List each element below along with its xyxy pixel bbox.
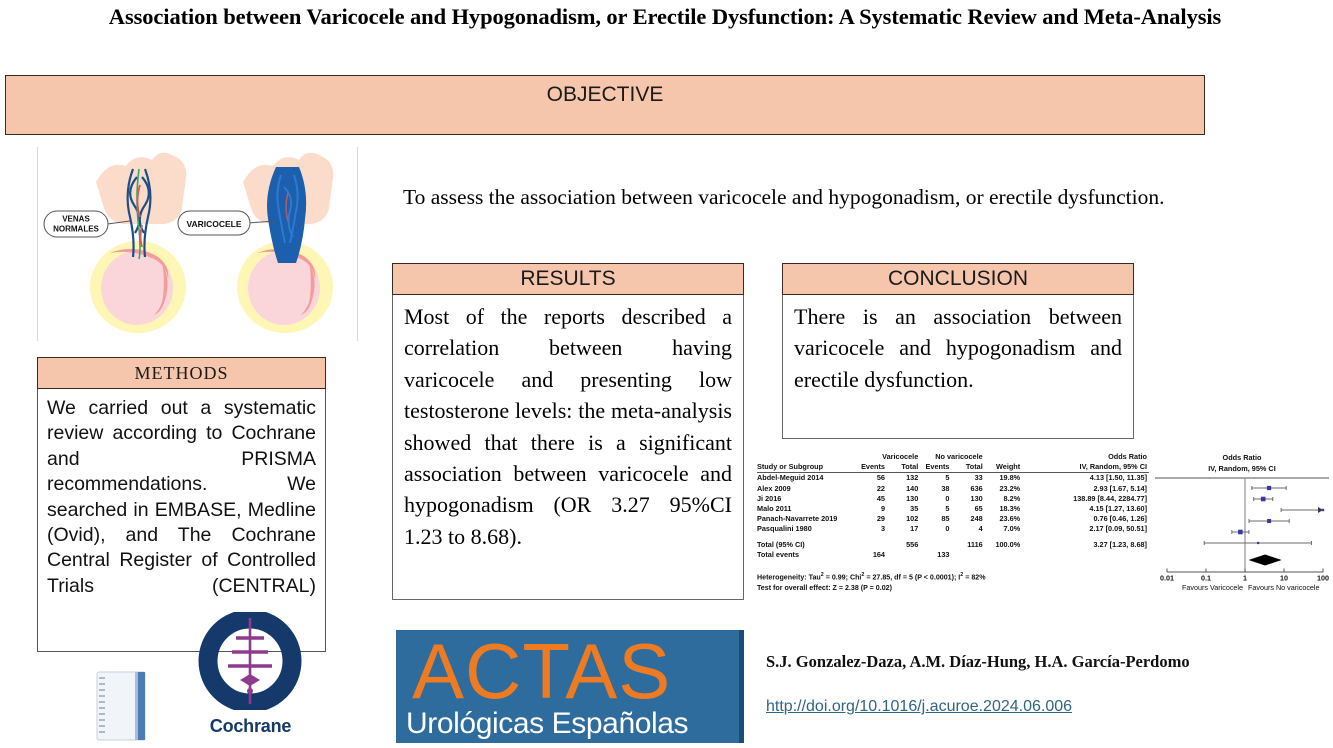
forest-events-control: 0: [921, 494, 952, 504]
forest-weight: 23.2%: [986, 484, 1024, 494]
forest-weight: 7.0%: [986, 524, 1024, 534]
forest-total-control: 130: [952, 494, 985, 504]
forest-col-ci: IV, Random, 95% CI: [1024, 462, 1149, 473]
forest-events-varicocele: 45: [857, 494, 888, 504]
forest-or-ci: 138.89 [8.44, 2284.77]: [1024, 494, 1149, 504]
forest-weight: 8.2%: [986, 494, 1024, 504]
forest-events-control: 38: [921, 484, 952, 494]
forest-te-blank3: [986, 550, 1024, 560]
section-header-objective: OBJECTIVE: [5, 75, 1205, 135]
forest-group-header-row: Varicocele No varicocele Odds Ratio: [757, 452, 1149, 462]
forest-x-tick: 10: [1280, 574, 1288, 583]
authors-line: S.J. Gonzalez-Daza, A.M. Díaz-Hung, H.A.…: [766, 652, 1190, 672]
spiral-notebook-glyph: [88, 668, 156, 743]
forest-col-events2: Events: [921, 462, 952, 473]
forest-or-ci: 2.17 [0.09, 50.51]: [1024, 524, 1149, 534]
forest-total-varicocele: 102: [888, 514, 921, 524]
anatomy-illustration-svg: VENAS NORMALES: [38, 147, 357, 341]
forest-total-n2: 1116: [952, 540, 985, 550]
forest-events-varicocele: 3: [857, 524, 888, 534]
forest-graph-title: Odds Ratio: [1155, 452, 1329, 463]
forest-events-control: 5: [921, 504, 952, 514]
forest-row-marker: [1249, 519, 1289, 523]
anatomy-label-varicocele: VARICOCELE: [186, 219, 241, 229]
forest-events-varicocele: 56: [857, 473, 888, 484]
forest-events-varicocele: 22: [857, 484, 888, 494]
forest-total-control: 65: [952, 504, 985, 514]
section-header-results: RESULTS: [392, 263, 744, 295]
forest-total-varicocele: 130: [888, 494, 921, 504]
forest-row-marker: [1232, 530, 1249, 535]
forest-study-name: Alex 2009: [757, 484, 857, 494]
forest-study-row: Alex 2009221403863623.2%2.93 [1.67, 5.14…: [757, 484, 1149, 494]
poster-canvas: Association between Varicocele and Hypog…: [0, 0, 1333, 743]
forest-study-name: Ji 2016: [757, 494, 857, 504]
forest-te-blank2: [952, 550, 985, 560]
forest-row-marker: [1252, 486, 1286, 490]
cochrane-mark-icon: [198, 612, 303, 710]
forest-weight: 19.8%: [986, 473, 1024, 484]
forest-pooled-diamond: [1249, 555, 1282, 566]
forest-study-name: Malo 2011: [757, 504, 857, 514]
forest-total-control: 4: [952, 524, 985, 534]
forest-te-blank1: [888, 550, 921, 560]
forest-total-events-1: 164: [857, 550, 888, 560]
forest-or-ci: 4.13 [1.50, 11.35]: [1024, 473, 1149, 484]
forest-study-row: Malo 201193556518.3%4.15 [1.27, 13.60]: [757, 504, 1149, 514]
forest-events-control: 5: [921, 473, 952, 484]
forest-weight: 18.3%: [986, 504, 1024, 514]
anatomy-label-normal-line1: VENAS: [62, 215, 90, 224]
forest-row-marker: [1204, 541, 1311, 545]
forest-events-varicocele: 29: [857, 514, 888, 524]
forest-total-varicocele: 132: [888, 473, 921, 484]
forest-row-marker: [1281, 507, 1324, 513]
page-title: Association between Varicocele and Hypog…: [60, 2, 1270, 31]
forest-col-study: Study or Subgroup: [757, 462, 857, 473]
forest-total-weight: 100.0%: [986, 540, 1024, 550]
methods-label: METHODS: [134, 363, 228, 383]
forest-row-marker: [1254, 497, 1273, 502]
cochrane-wordmark: Cochrane: [198, 716, 303, 737]
actas-subtitle: Urológicas Españolas: [396, 708, 744, 740]
forest-plot-statistics: Heterogeneity: Tau2 = 0.99; Chi2 = 27.85…: [757, 570, 1157, 593]
forest-x-tick: 0.1: [1201, 574, 1211, 583]
forest-study-row: Ji 20164513001308.2%138.89 [8.44, 2284.7…: [757, 494, 1149, 504]
forest-graph-subtitle: IV, Random, 95% CI: [1155, 463, 1329, 474]
forest-total-events-row: Total events164133: [757, 550, 1149, 560]
forest-total-n1: 556: [888, 540, 921, 550]
forest-x-tick: 1: [1243, 574, 1247, 583]
forest-or-ci: 2.93 [1.67, 5.14]: [1024, 484, 1149, 494]
forest-te-blank4: [1024, 550, 1149, 560]
forest-xlabel-right: Favours No varicocele: [1248, 583, 1320, 592]
forest-col-total1: Total: [888, 462, 921, 473]
doi-link[interactable]: http://doi.org/10.1016/j.acuroe.2024.06.…: [766, 698, 1072, 716]
forest-study-row: Pasqualini 1980317047.0%2.17 [0.09, 50.5…: [757, 524, 1149, 534]
forest-study-name: Abdel-Meguid 2014: [757, 473, 857, 484]
forest-total-control: 636: [952, 484, 985, 494]
forest-study-name: Panach-Navarrete 2019: [757, 514, 857, 524]
forest-study-row: Abdel-Meguid 20145613253319.8%4.13 [1.50…: [757, 473, 1149, 484]
forest-study-name: Pasqualini 1980: [757, 524, 857, 534]
forest-study-row: Panach-Navarrete 2019291028524823.6%0.76…: [757, 514, 1149, 524]
forest-events-control: 85: [921, 514, 952, 524]
forest-group-odds-ratio: Odds Ratio: [1024, 452, 1149, 462]
actas-journal-logo: ACTAS Urológicas Españolas: [396, 630, 744, 743]
forest-events-control: 0: [921, 524, 952, 534]
forest-total-events-label: Total events: [757, 550, 857, 560]
forest-x-tick: 100: [1317, 574, 1329, 583]
anatomy-label-normal-line2: NORMALES: [53, 225, 99, 234]
forest-col-weight: Weight: [986, 462, 1024, 473]
conclusion-body-text: There is an association between varicoce…: [782, 295, 1134, 439]
forest-plot-table: Varicocele No varicocele Odds Ratio Stud…: [757, 452, 1149, 560]
forest-events-varicocele: 9: [857, 504, 888, 514]
actas-edge-bar: [739, 630, 744, 743]
forest-or-ci: 0.76 [0.46, 1.26]: [1024, 514, 1149, 524]
results-box: RESULTS Most of the reports described a …: [392, 263, 744, 600]
actas-wordmark: ACTAS: [396, 630, 744, 708]
section-header-methods: METHODS: [37, 357, 326, 389]
section-header-conclusion: CONCLUSION: [782, 263, 1134, 295]
forest-graph-svg: 0.010.1110100Favours VaricoceleFavours N…: [1155, 474, 1329, 600]
forest-total-events-2: 133: [921, 550, 952, 560]
forest-weight: 23.6%: [986, 514, 1024, 524]
forest-total-control: 33: [952, 473, 985, 484]
forest-column-header-row: Study or Subgroup Events Total Events To…: [757, 462, 1149, 473]
objective-label: OBJECTIVE: [6, 83, 1204, 107]
forest-total-row: Total (95% CI)5561116100.0%3.27 [1.23, 8…: [757, 540, 1149, 550]
forest-col-total2: Total: [952, 462, 985, 473]
forest-plot-figure: Varicocele No varicocele Odds Ratio Stud…: [757, 452, 1329, 600]
forest-total-control: 248: [952, 514, 985, 524]
notebook-icon: [88, 668, 156, 743]
forest-total-blank1: [857, 540, 888, 550]
forest-group-no-varicocele: No varicocele: [921, 452, 985, 462]
cochrane-logo: Cochrane: [198, 612, 303, 734]
forest-or-ci: 4.15 [1.27, 13.60]: [1024, 504, 1149, 514]
forest-plot-graph: Odds Ratio IV, Random, 95% CI 0.010.1110…: [1155, 452, 1329, 600]
forest-total-or-ci: 3.27 [1.23, 8.68]: [1024, 540, 1149, 550]
forest-total-blank2: [921, 540, 952, 550]
methods-box: METHODS We carried out a systematic revi…: [37, 357, 326, 652]
forest-col-events1: Events: [857, 462, 888, 473]
objective-body-text: To assess the association between varico…: [403, 182, 1173, 213]
forest-group-varicocele: Varicocele: [857, 452, 921, 462]
results-body-text: Most of the reports described a correlat…: [392, 295, 744, 600]
conclusion-label: CONCLUSION: [888, 267, 1028, 290]
varicocele-anatomy-figure: VENAS NORMALES: [37, 147, 358, 341]
forest-total-varicocele: 140: [888, 484, 921, 494]
forest-total-varicocele: 17: [888, 524, 921, 534]
results-label: RESULTS: [520, 267, 615, 290]
forest-heterogeneity: Heterogeneity: Tau2 = 0.99; Chi2 = 27.85…: [757, 570, 1157, 583]
forest-plot-rows: Abdel-Meguid 20145613253319.8%4.13 [1.50…: [757, 473, 1149, 560]
forest-overall-effect: Test for overall effect: Z = 2.38 (P = 0…: [757, 583, 1157, 593]
forest-total-label: Total (95% CI): [757, 540, 857, 550]
forest-x-tick: 0.01: [1160, 574, 1174, 583]
forest-xlabel-left: Favours Varicocele: [1182, 583, 1243, 592]
conclusion-box: CONCLUSION There is an association betwe…: [782, 263, 1134, 439]
forest-total-varicocele: 35: [888, 504, 921, 514]
